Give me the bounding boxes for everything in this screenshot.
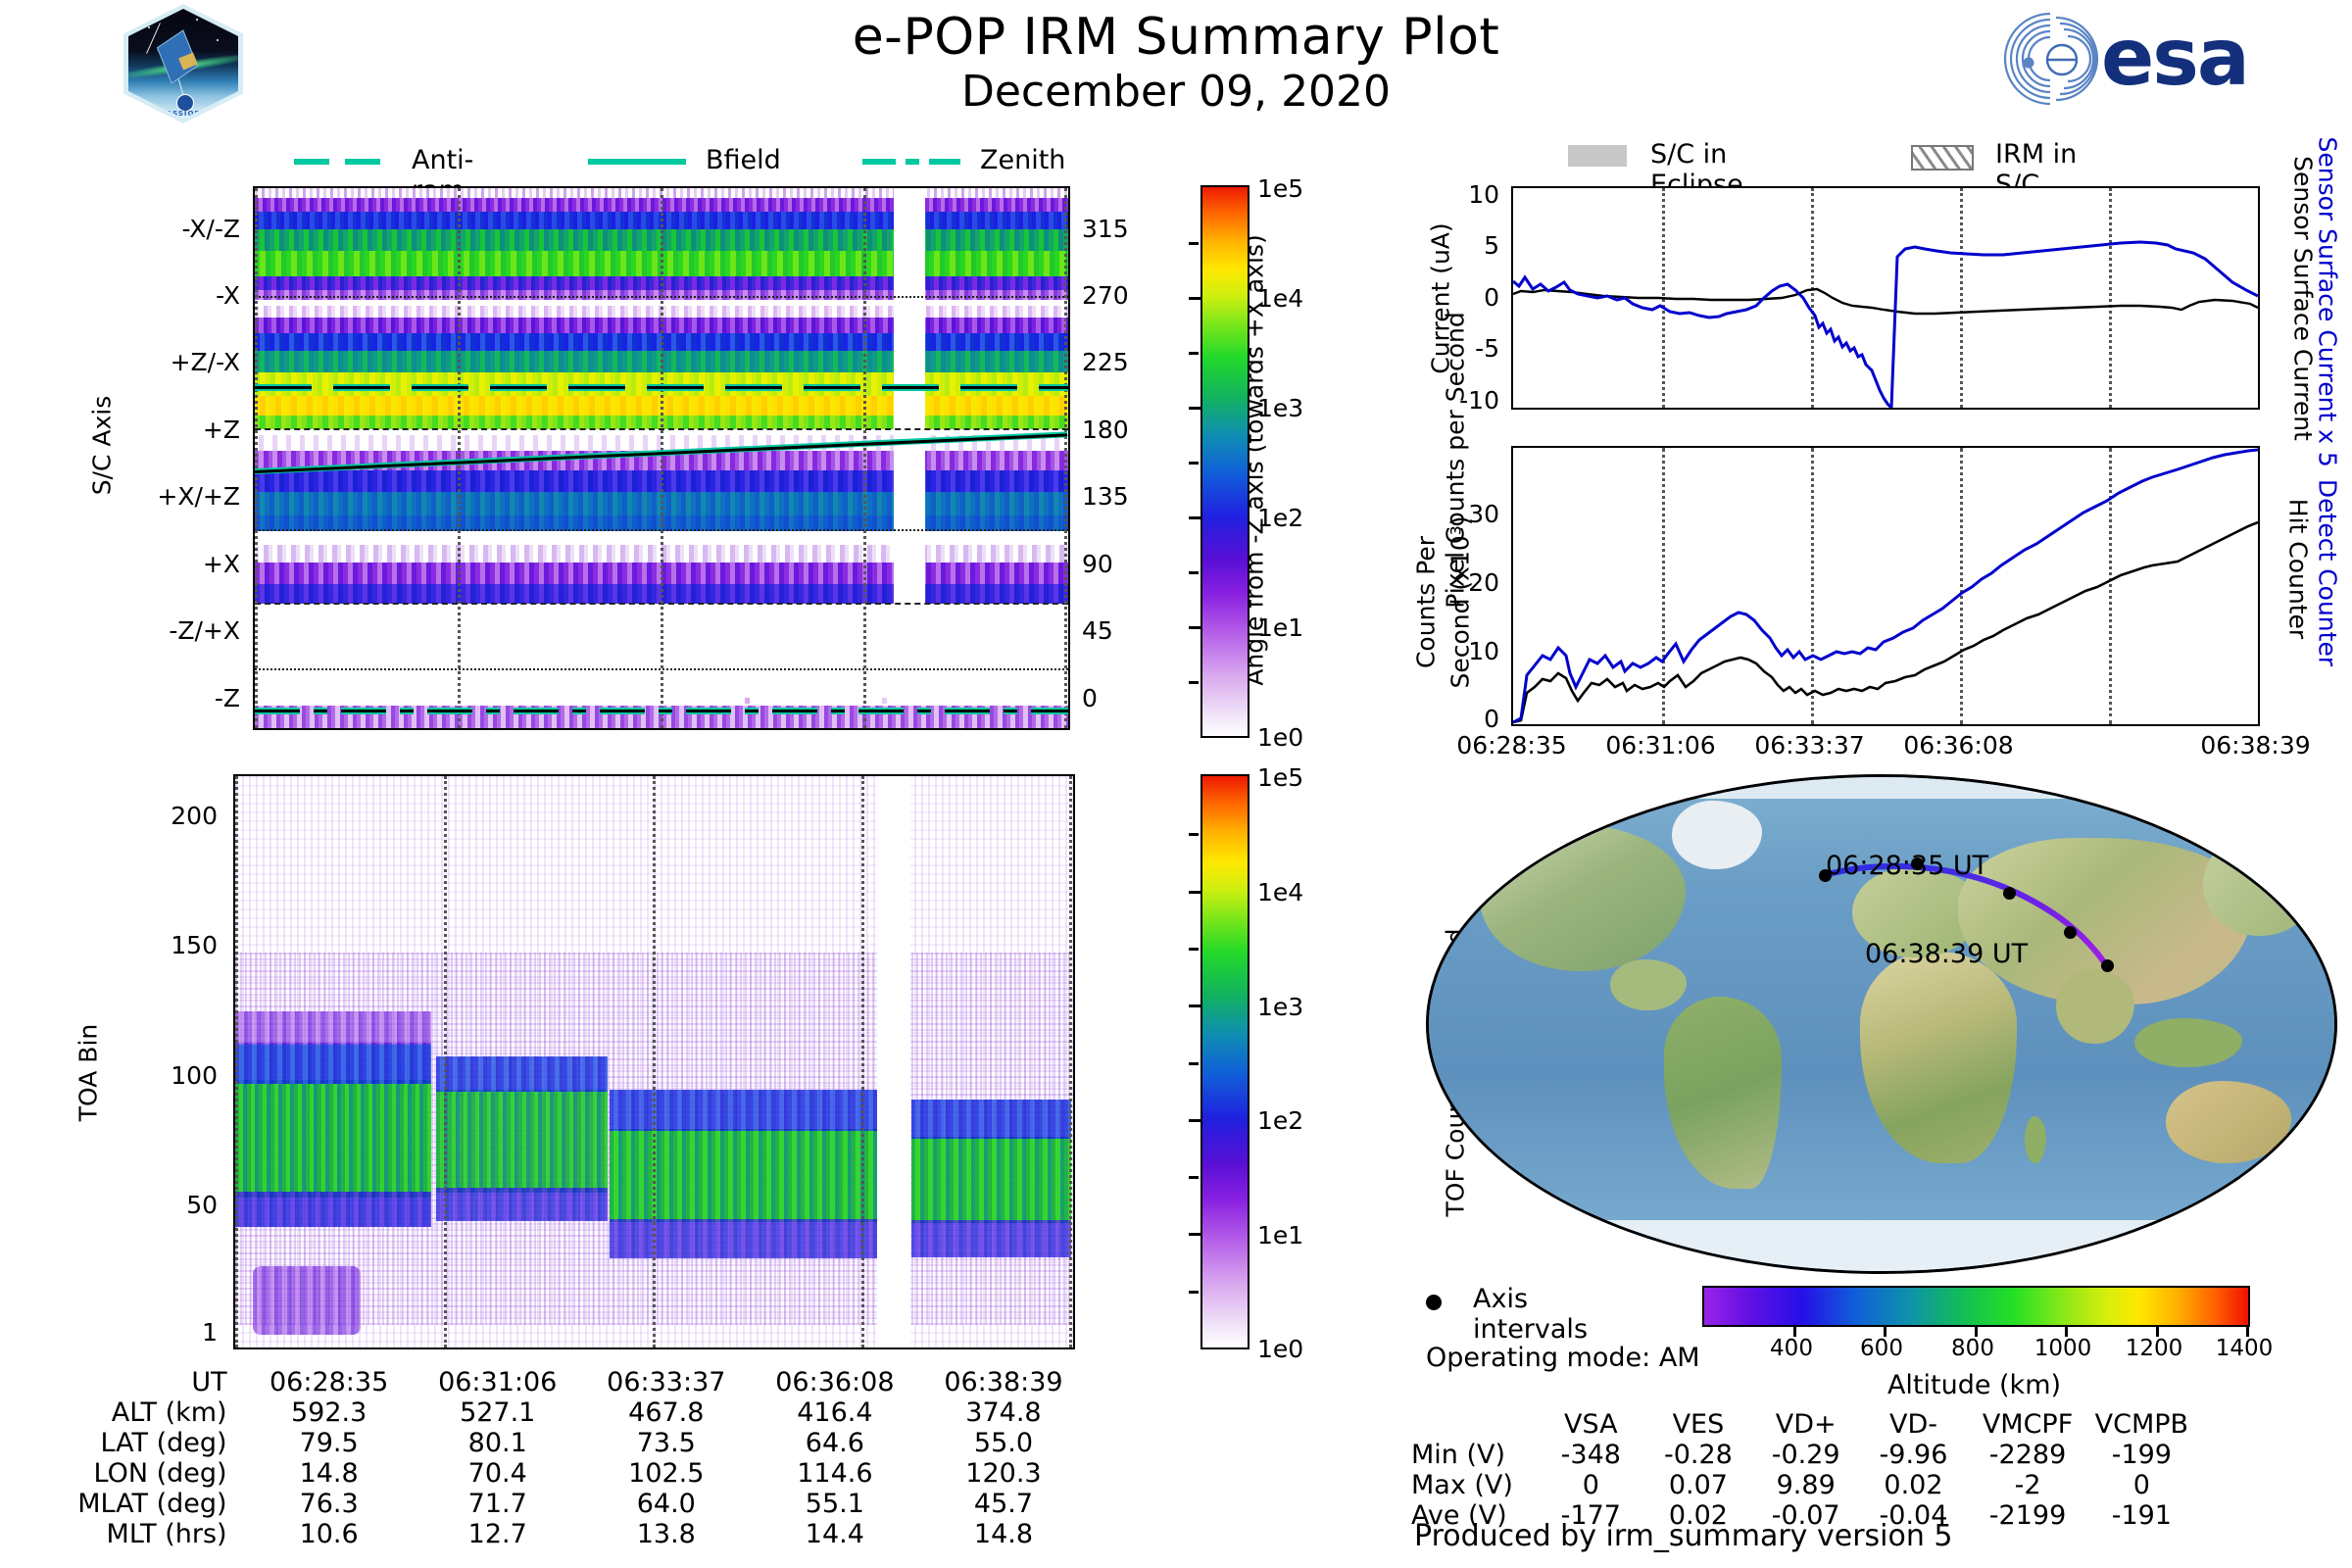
cell-max-vdplus: 9.89 bbox=[1752, 1470, 1860, 1500]
cb1-tick-1e1: 1e1 bbox=[1257, 613, 1303, 642]
cell-lat-2: 73.5 bbox=[582, 1428, 751, 1458]
spec1-ytick-0: -X/-Z bbox=[98, 215, 240, 243]
current-ytick-5: 5 bbox=[1431, 231, 1499, 260]
table-row: VSA VES VD+ VD- VMCPF VCMPB bbox=[1411, 1409, 2195, 1440]
ground-track-map[interactable]: 06:28:35 UT 06:38:39 UT bbox=[1426, 774, 2337, 1274]
alt-tick-1200: 1200 bbox=[2110, 1336, 2198, 1361]
spec2-ytick-100: 100 bbox=[127, 1061, 218, 1090]
right-time-tick-4: 06:38:39 bbox=[2175, 731, 2336, 759]
counts-plot[interactable] bbox=[1511, 446, 2260, 726]
current-black-trace bbox=[1513, 289, 2258, 314]
cb1-tick-1e3: 1e3 bbox=[1257, 394, 1303, 422]
spec2-ytick-50: 50 bbox=[127, 1191, 218, 1219]
row-label-alt: ALT (km) bbox=[20, 1397, 245, 1428]
table-row: Min (V) -348 -0.28 -0.29 -9.96 -2289 -19… bbox=[1411, 1440, 2195, 1470]
cb2-tick-1e4: 1e4 bbox=[1257, 878, 1303, 906]
spec1-ytick-6: -Z/+X bbox=[98, 616, 240, 645]
spec1-rtick-0: 315 bbox=[1082, 215, 1129, 243]
cell-lat-1: 80.1 bbox=[414, 1428, 582, 1458]
cell-max-vcmpb: 0 bbox=[2088, 1470, 2195, 1500]
row-label-lat: LAT (deg) bbox=[20, 1428, 245, 1458]
col-header-ves: VES bbox=[1644, 1409, 1752, 1440]
track-point-end bbox=[2101, 959, 2114, 972]
current-ytick-m10: -10 bbox=[1411, 386, 1499, 415]
cell-ave-vcmpb: -191 bbox=[2088, 1500, 2195, 1531]
toa-gridline bbox=[861, 776, 864, 1347]
spec1-ytick-3: +Z bbox=[98, 416, 240, 444]
spec1-rtick-1: 270 bbox=[1082, 281, 1129, 310]
cell-lon-3: 114.6 bbox=[751, 1458, 919, 1489]
counts-blue-trace bbox=[1513, 450, 2258, 722]
col-header-vdminus: VD- bbox=[1860, 1409, 1968, 1440]
pixel-counts-colorbar bbox=[1200, 185, 1249, 738]
right-time-tick-1: 06:31:06 bbox=[1580, 731, 1741, 759]
spec-data-gap-2 bbox=[894, 431, 925, 617]
col-header-vdplus: VD+ bbox=[1752, 1409, 1860, 1440]
table-row: MLAT (deg) 76.3 71.7 64.0 55.1 45.7 bbox=[20, 1489, 1088, 1519]
current-ytick-10: 10 bbox=[1431, 180, 1499, 209]
spec-gridline bbox=[255, 188, 258, 728]
legend-swatch-bfield bbox=[588, 159, 686, 165]
cell-mlt-4: 14.8 bbox=[919, 1519, 1088, 1549]
zenith-trace-core bbox=[255, 710, 1068, 712]
toa-band-halo bbox=[235, 1011, 431, 1045]
cell-mlat-1: 71.7 bbox=[414, 1489, 582, 1519]
spec2-ytick-150: 150 bbox=[127, 931, 218, 959]
toa-band-edge bbox=[610, 1219, 879, 1258]
legend-label-zenith: Zenith bbox=[980, 145, 1065, 175]
altitude-colorbar-label: Altitude (km) bbox=[1702, 1370, 2246, 1400]
track-point bbox=[2003, 887, 2016, 900]
table-row: LON (deg) 14.8 70.4 102.5 114.6 120.3 bbox=[20, 1458, 1088, 1489]
cell-ut-2: 06:33:37 bbox=[582, 1367, 751, 1397]
pixel-counts-spectrogram[interactable] bbox=[253, 186, 1070, 730]
cb2-tick-1e3: 1e3 bbox=[1257, 993, 1303, 1021]
alt-tick-1000: 1000 bbox=[2019, 1336, 2107, 1361]
toa-bright-band bbox=[911, 1137, 1071, 1223]
voltage-table: VSA VES VD+ VD- VMCPF VCMPB Min (V) -348… bbox=[1411, 1409, 2195, 1531]
cassiope-logo-word: CASSIOPE bbox=[128, 110, 238, 118]
alt-tick-600: 600 bbox=[1837, 1336, 1926, 1361]
cell-max-vsa: 0 bbox=[1538, 1470, 1644, 1500]
row-label-mlat: MLAT (deg) bbox=[20, 1489, 245, 1519]
cell-mlt-0: 10.6 bbox=[245, 1519, 414, 1549]
map-end-time-label: 06:38:39 UT bbox=[1865, 939, 2028, 969]
cell-alt-3: 416.4 bbox=[751, 1397, 919, 1428]
toa-bin-spectrogram[interactable] bbox=[233, 774, 1075, 1349]
cell-mlt-1: 12.7 bbox=[414, 1519, 582, 1549]
cell-mlat-0: 76.3 bbox=[245, 1489, 414, 1519]
cb2-tick-1e2: 1e2 bbox=[1257, 1106, 1303, 1135]
counts-ytick-30: 30 bbox=[1429, 500, 1499, 528]
toa-band-edge bbox=[911, 1220, 1071, 1257]
current-ytick-m5: -5 bbox=[1423, 334, 1499, 363]
cb1-tick-1e0: 1e0 bbox=[1257, 723, 1303, 752]
esa-logo: esa bbox=[1999, 8, 2293, 110]
cell-mlt-3: 14.4 bbox=[751, 1519, 919, 1549]
cell-lon-2: 102.5 bbox=[582, 1458, 751, 1489]
right-time-tick-2: 06:33:37 bbox=[1729, 731, 1890, 759]
spec1-ytick-4: +X/+Z bbox=[98, 482, 240, 511]
row-label-mlt: MLT (hrs) bbox=[20, 1519, 245, 1549]
spec1-rtick-5: 90 bbox=[1082, 550, 1113, 578]
axis-interval-dot-icon bbox=[1426, 1295, 1442, 1310]
cb2-tick-1e0: 1e0 bbox=[1257, 1335, 1303, 1363]
current-plot[interactable] bbox=[1511, 186, 2260, 410]
cell-min-vdminus: -9.96 bbox=[1860, 1440, 1968, 1470]
col-header-vcmpb: VCMPB bbox=[2088, 1409, 2195, 1440]
table-row: ALT (km) 592.3 527.1 467.8 416.4 374.8 bbox=[20, 1397, 1088, 1428]
cell-lon-4: 120.3 bbox=[919, 1458, 1088, 1489]
ephemeris-table: UT 06:28:35 06:31:06 06:33:37 06:36:08 0… bbox=[20, 1367, 1088, 1549]
row-label-min: Min (V) bbox=[1411, 1440, 1538, 1470]
cell-mlt-2: 13.8 bbox=[582, 1519, 751, 1549]
toa-band-edge bbox=[610, 1090, 879, 1131]
spec1-rtick-3: 180 bbox=[1082, 416, 1129, 444]
cell-ut-3: 06:36:08 bbox=[751, 1367, 919, 1397]
cb2-tick-1e5: 1e5 bbox=[1257, 763, 1303, 792]
cassiope-logo: CASSIOPE bbox=[123, 4, 243, 123]
toa-data-gap bbox=[877, 776, 910, 1347]
counts-right-label-blue: Detect Counter bbox=[2314, 431, 2342, 715]
row-label-ut: UT bbox=[20, 1367, 245, 1397]
cell-ut-4: 06:38:39 bbox=[919, 1367, 1088, 1397]
toa-bright-band bbox=[436, 1090, 608, 1193]
shadow-swatch-icon bbox=[1911, 145, 1974, 171]
map-globe bbox=[1426, 774, 2337, 1274]
operating-mode-label: Operating mode: AM bbox=[1426, 1343, 1700, 1373]
spec-gridline bbox=[863, 188, 866, 728]
cell-mlat-3: 55.1 bbox=[751, 1489, 919, 1519]
cell-mlat-2: 64.0 bbox=[582, 1489, 751, 1519]
toa-lowblob bbox=[253, 1266, 361, 1335]
cell-lon-0: 14.8 bbox=[245, 1458, 414, 1489]
cell-alt-4: 374.8 bbox=[919, 1397, 1088, 1428]
table-row: LAT (deg) 79.5 80.1 73.5 64.6 55.0 bbox=[20, 1428, 1088, 1458]
alt-tick-800: 800 bbox=[1929, 1336, 2017, 1361]
cell-lon-1: 70.4 bbox=[414, 1458, 582, 1489]
row-label-lon: LON (deg) bbox=[20, 1458, 245, 1489]
cell-lat-4: 55.0 bbox=[919, 1428, 1088, 1458]
altitude-colorbar bbox=[1702, 1286, 2250, 1327]
legend-swatch-anti-ram bbox=[294, 159, 392, 165]
cell-min-vsa: -348 bbox=[1538, 1440, 1644, 1470]
spec1-rtick-6: 45 bbox=[1082, 616, 1113, 645]
spec1-ytick-2: +Z/-X bbox=[98, 348, 240, 376]
cell-lat-0: 79.5 bbox=[245, 1428, 414, 1458]
track-point bbox=[2064, 926, 2077, 939]
cell-min-vmcpf: -2289 bbox=[1967, 1440, 2087, 1470]
cb1-tick-1e4: 1e4 bbox=[1257, 284, 1303, 313]
esa-emblem-icon bbox=[1999, 10, 2101, 108]
spec1-ytick-5: +X bbox=[98, 550, 240, 578]
counts-black-trace bbox=[1513, 522, 2258, 722]
map-start-time-label: 06:28:35 UT bbox=[1826, 851, 1988, 881]
spec1-rtick-4: 135 bbox=[1082, 482, 1129, 511]
legend-label-bfield: Bfield bbox=[706, 145, 781, 175]
toa-bright-band bbox=[235, 1080, 431, 1198]
spec-gridline bbox=[1064, 188, 1067, 728]
counts-ytick-20: 20 bbox=[1429, 568, 1499, 597]
cell-max-vdminus: 0.02 bbox=[1860, 1470, 1968, 1500]
toa-band-edge bbox=[235, 1043, 431, 1084]
current-blue-trace bbox=[1513, 242, 2258, 408]
cb2-tick-1e1: 1e1 bbox=[1257, 1221, 1303, 1249]
spec2-ytick-200: 200 bbox=[127, 802, 218, 830]
alt-tick-400: 400 bbox=[1747, 1336, 1836, 1361]
cell-min-vcmpb: -199 bbox=[2088, 1440, 2195, 1470]
counts-ytick-10: 10 bbox=[1429, 637, 1499, 665]
legend-swatch-zenith bbox=[862, 159, 960, 165]
table-row: MLT (hrs) 10.6 12.7 13.8 14.4 14.8 bbox=[20, 1519, 1088, 1549]
toa-gridline bbox=[1069, 776, 1072, 1347]
toa-band-edge bbox=[911, 1100, 1071, 1139]
spec1-rtick-7: 0 bbox=[1082, 684, 1098, 712]
alt-tick-1400: 1400 bbox=[2200, 1336, 2288, 1361]
current-right-label-blue: Sensor Surface Current x 5 bbox=[2314, 137, 2342, 461]
tof-counts-colorbar bbox=[1200, 774, 1249, 1349]
table-row: UT 06:28:35 06:31:06 06:33:37 06:36:08 0… bbox=[20, 1367, 1088, 1397]
anti-ram-trace-core bbox=[255, 386, 1068, 389]
cell-max-vmcpf: -2 bbox=[1967, 1470, 2087, 1500]
cell-ut-0: 06:28:35 bbox=[245, 1367, 414, 1397]
esa-wordmark: esa bbox=[2101, 14, 2248, 102]
counts-ytick-0: 0 bbox=[1429, 705, 1499, 733]
cell-ave-vmcpf: -2199 bbox=[1967, 1500, 2087, 1531]
spec1-ytick-7: -Z bbox=[98, 684, 240, 712]
cell-min-vdplus: -0.29 bbox=[1752, 1440, 1860, 1470]
cell-ut-1: 06:31:06 bbox=[414, 1367, 582, 1397]
produced-by-label: Produced by irm_summary version 5 bbox=[1414, 1519, 1952, 1553]
spec-gridline bbox=[661, 188, 663, 728]
right-time-tick-0: 06:28:35 bbox=[1431, 731, 1592, 759]
cell-alt-1: 527.1 bbox=[414, 1397, 582, 1428]
cell-mlat-4: 45.7 bbox=[919, 1489, 1088, 1519]
table-row: Max (V) 0 0.07 9.89 0.02 -2 0 bbox=[1411, 1470, 2195, 1500]
toa-gridline bbox=[235, 776, 238, 1347]
cell-max-ves: 0.07 bbox=[1644, 1470, 1752, 1500]
spec2-ylabel: TOA Bin bbox=[74, 990, 103, 1156]
toa-gridline bbox=[653, 776, 656, 1347]
current-ytick-0: 0 bbox=[1431, 283, 1499, 312]
right-time-tick-3: 06:36:08 bbox=[1878, 731, 2039, 759]
cell-alt-2: 467.8 bbox=[582, 1397, 751, 1428]
spec1-rtick-2: 225 bbox=[1082, 348, 1129, 376]
toa-band-edge bbox=[436, 1056, 608, 1092]
eclipse-swatch-icon bbox=[1568, 145, 1627, 167]
cell-alt-0: 592.3 bbox=[245, 1397, 414, 1428]
row-label-max: Max (V) bbox=[1411, 1470, 1538, 1500]
spec2-ytick-1: 1 bbox=[127, 1318, 218, 1347]
toa-bright-band bbox=[610, 1129, 879, 1222]
toa-band-edge bbox=[235, 1192, 431, 1227]
cell-min-ves: -0.28 bbox=[1644, 1440, 1752, 1470]
col-header-vmcpf: VMCPF bbox=[1967, 1409, 2087, 1440]
col-header-vsa: VSA bbox=[1538, 1409, 1644, 1440]
spec1-ytick-1: -X bbox=[98, 281, 240, 310]
current-right-label-black: Sensor Surface Current bbox=[2289, 137, 2318, 461]
cb1-tick-1e5: 1e5 bbox=[1257, 174, 1303, 203]
axis-intervals-label: Axis intervals bbox=[1473, 1284, 1588, 1345]
toa-band-edge bbox=[436, 1188, 608, 1221]
toa-gridline bbox=[444, 776, 447, 1347]
counts-right-label-black: Hit Counter bbox=[2284, 427, 2313, 711]
cell-lat-3: 64.6 bbox=[751, 1428, 919, 1458]
cb1-tick-1e2: 1e2 bbox=[1257, 504, 1303, 532]
